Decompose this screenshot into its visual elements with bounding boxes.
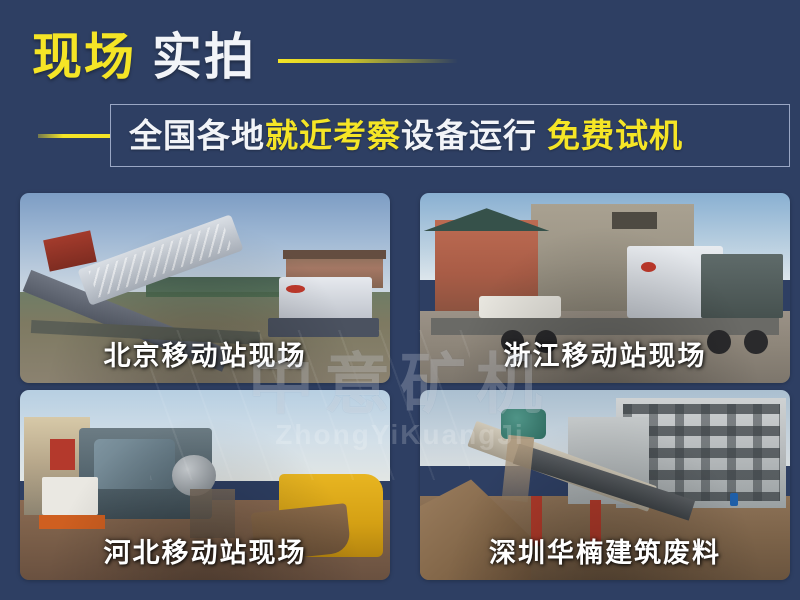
gallery-photo-shenzhen[interactable]: 深圳华楠建筑废料	[420, 390, 790, 580]
gallery-photo-beijing[interactable]: 北京移动站现场	[20, 193, 390, 383]
photo-caption: 河北移动站现场	[20, 531, 390, 570]
promo-banner: 现场 实拍 全国各地 就近考察 设备运行 免费试机 北京移动站现场	[0, 0, 800, 600]
subtitle-segment-2: 就近考察	[265, 119, 401, 152]
gallery-photo-hebei[interactable]: 河北移动站现场	[20, 390, 390, 580]
photo-caption: 北京移动站现场	[20, 334, 390, 373]
banner-header: 现场 实拍 全国各地 就近考察 设备运行 免费试机	[0, 0, 800, 193]
subtitle-box: 全国各地 就近考察 设备运行 免费试机	[110, 104, 790, 167]
page-title: 现场 实拍	[32, 26, 458, 88]
photo-caption: 浙江移动站现场	[420, 334, 790, 373]
subtitle-segment-3: 设备运行	[401, 119, 537, 152]
photo-caption: 深圳华楠建筑废料	[420, 531, 790, 570]
subtitle-segment-4: 免费试机	[547, 119, 683, 152]
page-title-rest: 实拍	[152, 32, 256, 82]
subtitle-segment-1: 全国各地	[129, 119, 265, 152]
gallery-photo-zhejiang[interactable]: 浙江移动站现场	[420, 193, 790, 383]
photo-gallery-grid: 北京移动站现场 浙江移动站现场	[20, 193, 790, 580]
horizontal-rule-icon	[278, 59, 458, 63]
horizontal-rule-icon	[38, 134, 110, 138]
page-title-highlight: 现场	[32, 32, 136, 82]
